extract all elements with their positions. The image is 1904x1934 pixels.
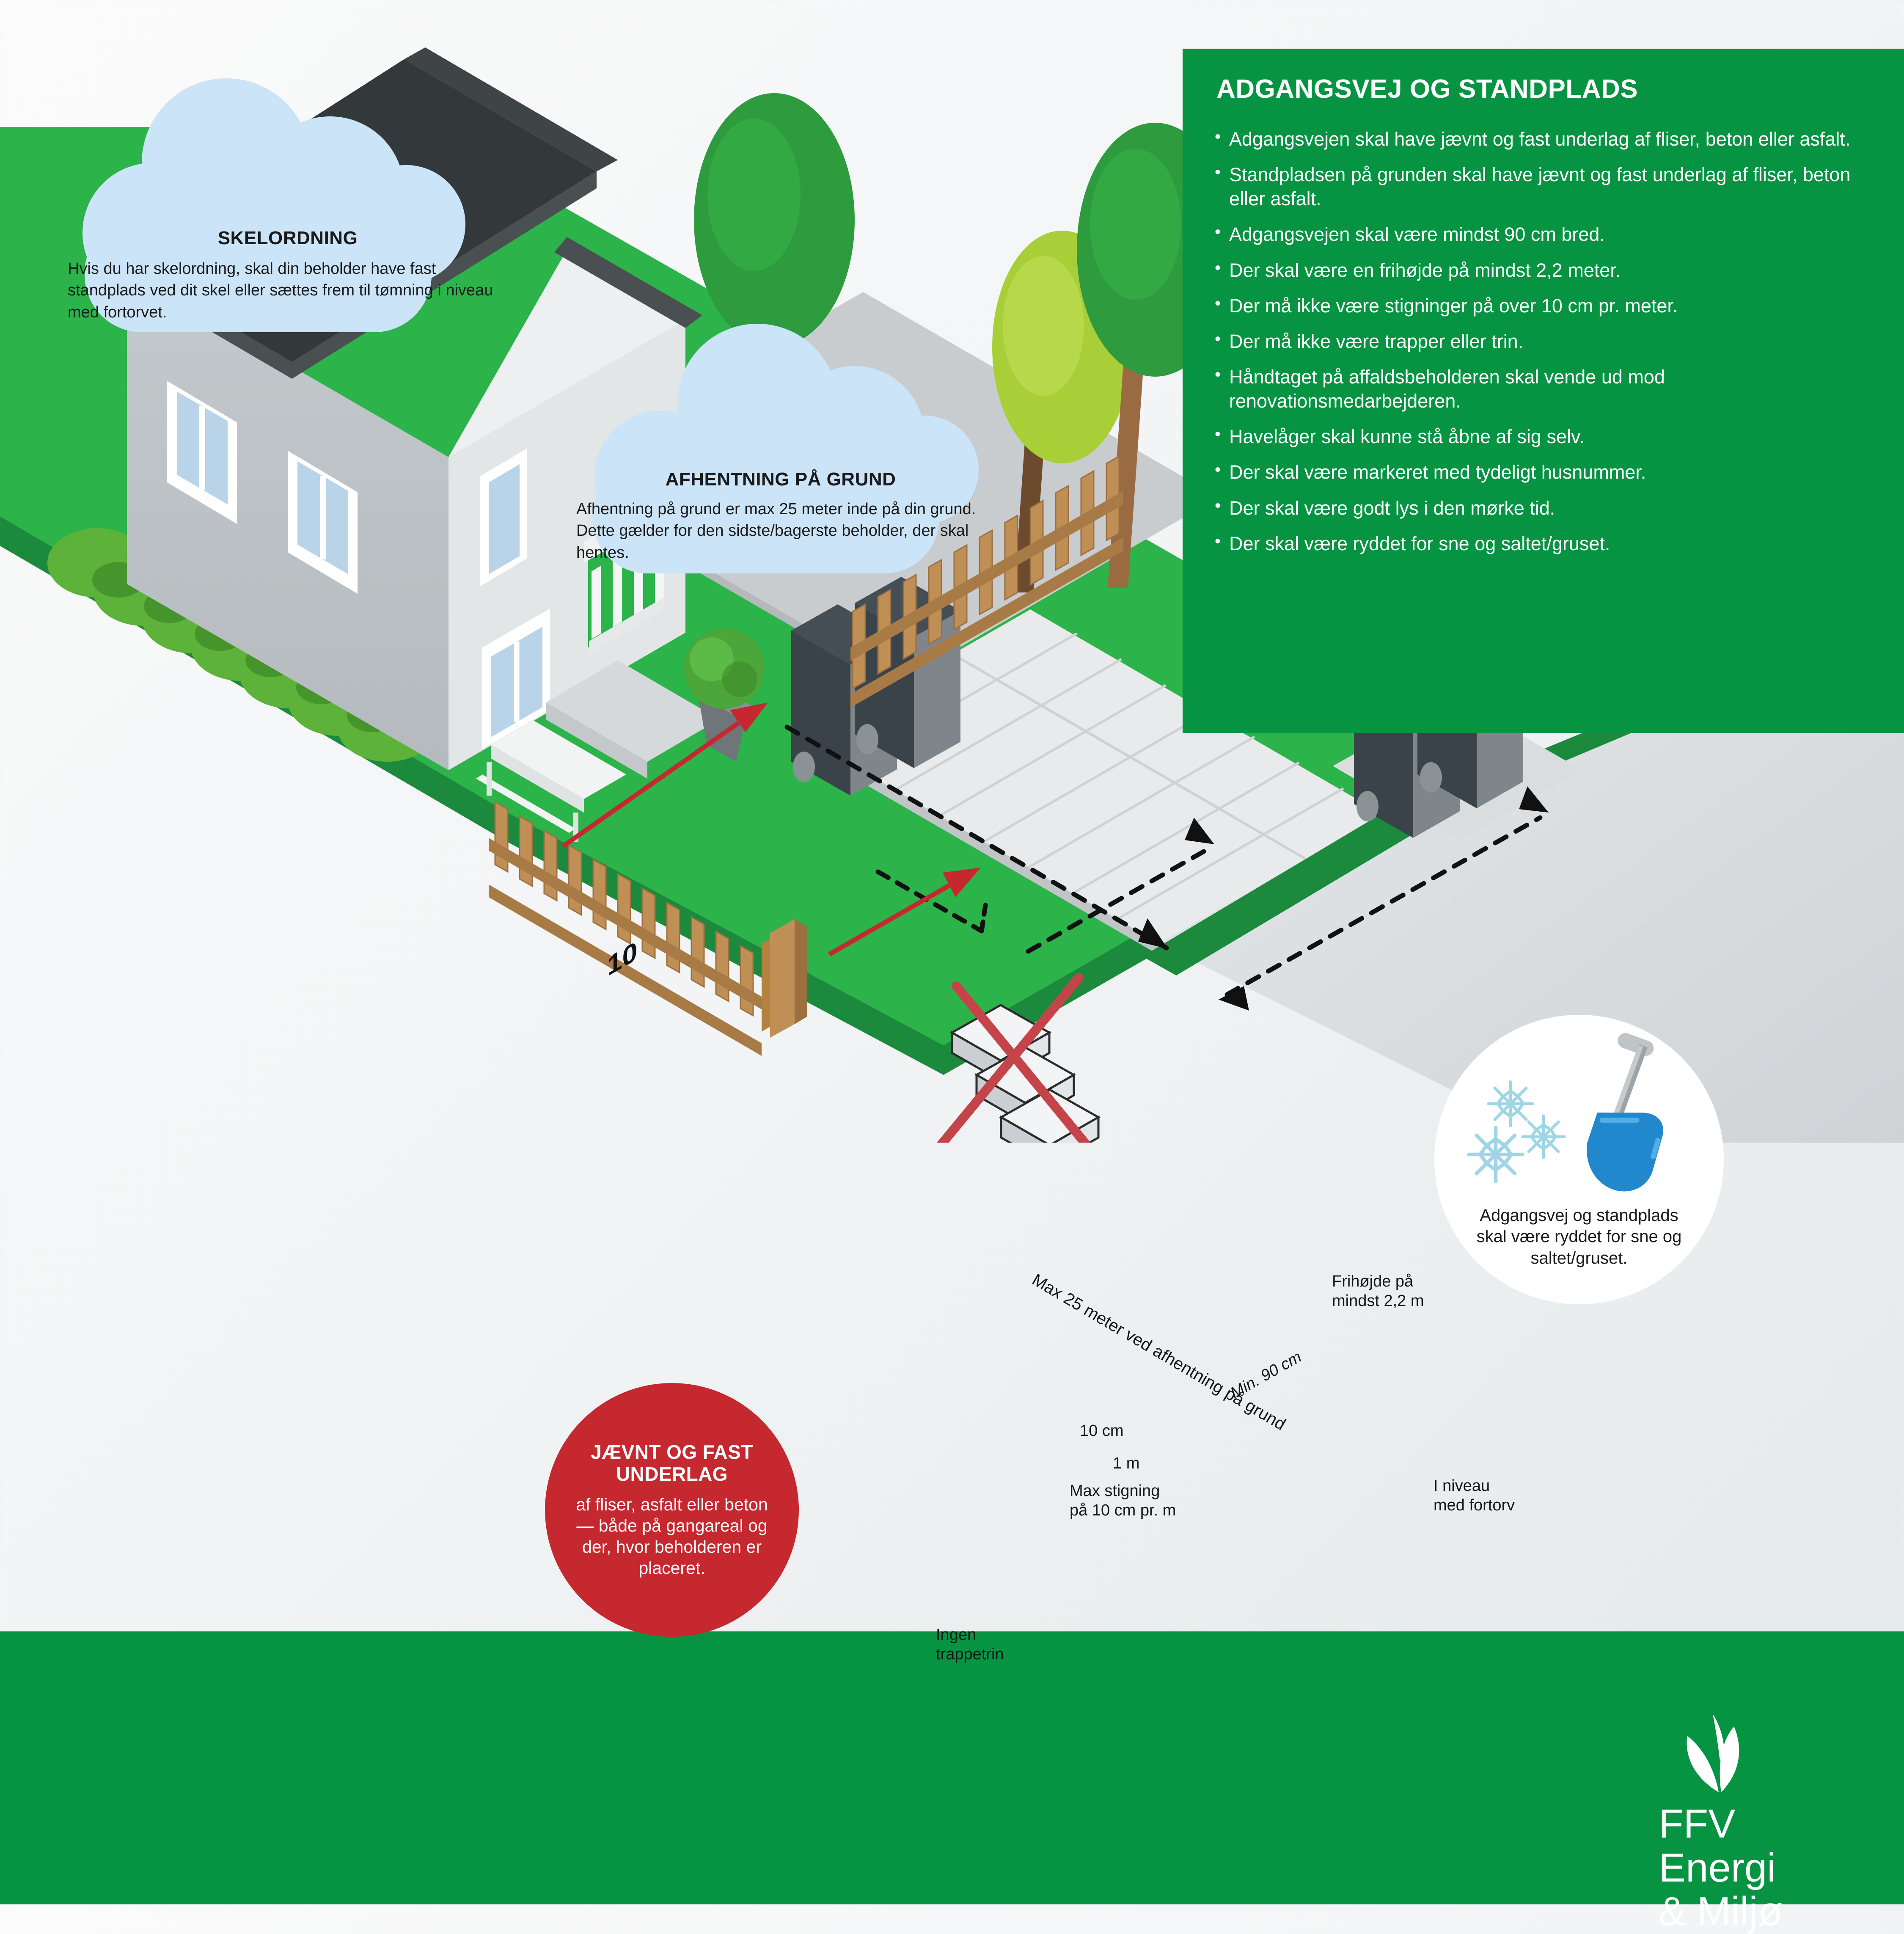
cloud-1-title: SKELORDNING bbox=[68, 228, 508, 249]
leaf-logo-icon bbox=[1663, 1710, 1773, 1794]
label-ingen-trappetrin: Ingen trappetrin bbox=[936, 1625, 1004, 1664]
label-max-stigning-line1: Max stigning bbox=[1070, 1481, 1176, 1501]
fence-gatepost bbox=[770, 919, 807, 1038]
red-callout-body: af fliser, asfalt eller beton — både på … bbox=[567, 1494, 777, 1579]
label-frihojde: Frihøjde på mindst 2,2 m bbox=[1332, 1272, 1424, 1311]
logo-line-2: & Miljø bbox=[1659, 1890, 1841, 1934]
logo-text: FFV Energi & Miljø bbox=[1659, 1802, 1841, 1934]
cloud-callout-afhentning: AFHENTNING PÅ GRUND Afhentning på grund … bbox=[546, 313, 1015, 576]
logo-line-1: FFV Energi bbox=[1659, 1802, 1841, 1890]
label-max-stigning: Max stigning på 10 cm pr. m bbox=[1070, 1481, 1176, 1521]
snow-shovel-icon bbox=[1574, 1032, 1671, 1200]
panel-title: ADGANGSVEJ OG STANDPLADS bbox=[1216, 74, 1879, 104]
infographic-root: SKELORDNING Hvis du har skelordning, ska… bbox=[0, 0, 1904, 1904]
footer-bar bbox=[0, 1631, 1904, 1904]
brand-logo: FFV Energi & Miljø bbox=[1659, 1710, 1841, 1934]
panel-bullet: Der må ikke være stigninger på over 10 c… bbox=[1213, 294, 1879, 318]
snow-callout-body: Adgangsvej og standplads skal være rydde… bbox=[1469, 1205, 1689, 1269]
cloud-1-body: Hvis du har skelordning, skal din behold… bbox=[68, 258, 508, 323]
panel-bullet: Der skal være markeret med tydeligt husn… bbox=[1213, 460, 1879, 484]
label-i-niveau-line2: med fortorv bbox=[1434, 1496, 1515, 1515]
panel-bullet: Der skal være ryddet for sne og saltet/g… bbox=[1213, 532, 1879, 556]
panel-bullet: Der skal være en frihøjde på mindst 2,2 … bbox=[1213, 258, 1879, 282]
panel-bullet: Standpladsen på grunden skal have jævnt … bbox=[1213, 163, 1879, 211]
label-i-niveau-med-fortorv: I niveau med fortorv bbox=[1434, 1476, 1515, 1515]
label-frihojde-line1: Frihøjde på bbox=[1332, 1272, 1424, 1291]
red-callout-title: JÆVNT OG FAST UNDERLAG bbox=[567, 1441, 777, 1485]
panel-bullet: Der må ikke være trapper eller trin. bbox=[1213, 329, 1879, 353]
cloud-2-title: AFHENTNING PÅ GRUND bbox=[576, 469, 985, 490]
panel-bullet: Adgangsvejen skal have jævnt og fast und… bbox=[1213, 127, 1879, 151]
panel-bullet: Der skal være godt lys i den mørke tid. bbox=[1213, 496, 1879, 520]
snowflake-icon bbox=[1469, 1082, 1565, 1181]
label-i-niveau-line1: I niveau bbox=[1434, 1476, 1515, 1496]
snow-callout: Adgangsvej og standplads skal være rydde… bbox=[1434, 1015, 1724, 1304]
label-max-stigning-line2: på 10 cm pr. m bbox=[1070, 1501, 1176, 1520]
info-panel: ADGANGSVEJ OG STANDPLADS Adgangsvejen sk… bbox=[1183, 49, 1904, 733]
label-max-25-meter: Max 25 meter ved afhentning på grund bbox=[1028, 1270, 1289, 1435]
panel-bullet-list: Adgangsvejen skal have jævnt og fast und… bbox=[1213, 127, 1879, 556]
label-min-90-cm: Min. 90 cm bbox=[1227, 1347, 1305, 1403]
label-1-m: 1 m bbox=[1113, 1454, 1139, 1473]
label-frihojde-line2: mindst 2,2 m bbox=[1332, 1291, 1424, 1311]
cloud-callout-skelordning: SKELORDNING Hvis du har skelordning, ska… bbox=[34, 63, 542, 334]
red-callout: JÆVNT OG FAST UNDERLAG af fliser, asfalt… bbox=[545, 1383, 799, 1637]
panel-bullet: Adgangsvejen skal være mindst 90 cm bred… bbox=[1213, 222, 1879, 246]
cloud-2-body: Afhentning på grund er max 25 meter inde… bbox=[576, 499, 985, 564]
label-10-cm: 10 cm bbox=[1080, 1421, 1123, 1441]
label-ingen-trappetrin-line2: trappetrin bbox=[936, 1645, 1004, 1664]
label-ingen-trappetrin-line1: Ingen bbox=[936, 1625, 1004, 1645]
panel-bullet: Håndtaget på affaldsbeholderen skal vend… bbox=[1213, 365, 1879, 413]
panel-bullet: Havelåger skal kunne stå åbne af sig sel… bbox=[1213, 424, 1879, 449]
